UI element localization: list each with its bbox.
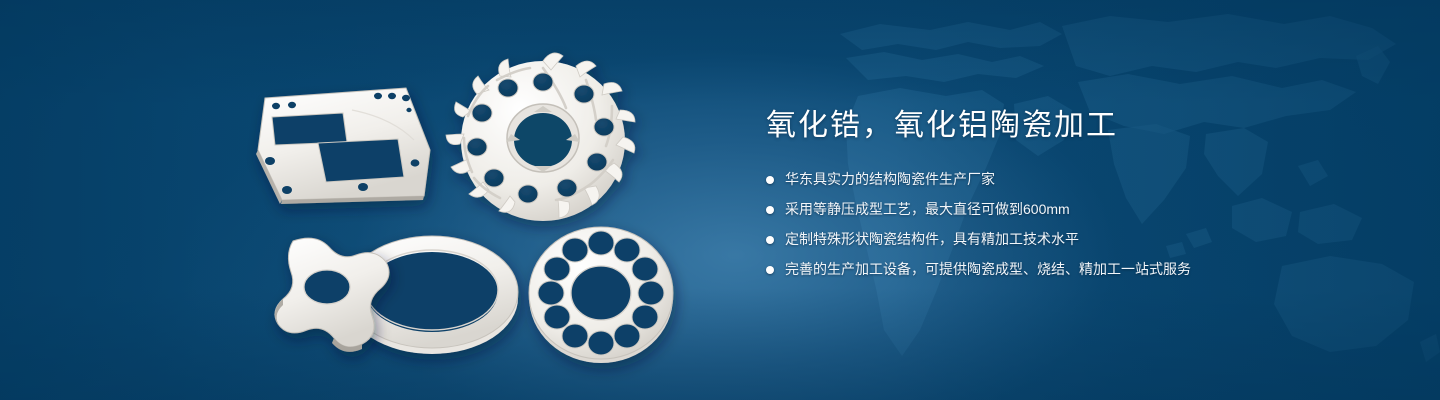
list-item: 完善的生产加工设备，可提供陶瓷成型、烧结、精加工一站式服务 [766, 258, 1386, 281]
list-item-label: 定制特殊形状陶瓷结构件，具有精加工技术水平 [785, 228, 1079, 251]
bullet-dot-icon [766, 266, 774, 274]
list-item-label: 完善的生产加工设备，可提供陶瓷成型、烧结、精加工一站式服务 [785, 258, 1191, 281]
bullet-dot-icon [766, 236, 774, 244]
list-item: 华东具实力的结构陶瓷件生产厂家 [766, 168, 1386, 191]
bullet-dot-icon [766, 206, 774, 214]
ceramic-perforated-disc [529, 227, 673, 363]
list-item-label: 华东具实力的结构陶瓷件生产厂家 [785, 168, 995, 191]
ceramic-impeller [446, 53, 635, 221]
bullet-dot-icon [766, 176, 774, 184]
list-item: 采用等静压成型工艺，最大直径可做到600mm [766, 198, 1386, 221]
list-item: 定制特殊形状陶瓷结构件，具有精加工技术水平 [766, 228, 1386, 251]
banner-copy: 氧化锆，氧化铝陶瓷加工 华东具实力的结构陶瓷件生产厂家 采用等静压成型工艺，最大… [766, 106, 1386, 288]
list-item-label: 采用等静压成型工艺，最大直径可做到600mm [785, 198, 1070, 221]
product-photo-group [0, 0, 760, 400]
ceramic-cross-part [275, 238, 389, 352]
feature-list: 华东具实力的结构陶瓷件生产厂家 采用等静压成型工艺，最大直径可做到600mm 定… [766, 168, 1386, 281]
page-title: 氧化锆，氧化铝陶瓷加工 [766, 106, 1386, 146]
ceramic-plate [256, 88, 430, 204]
hero-banner: 氧化锆，氧化铝陶瓷加工 华东具实力的结构陶瓷件生产厂家 采用等静压成型工艺，最大… [0, 0, 1440, 400]
